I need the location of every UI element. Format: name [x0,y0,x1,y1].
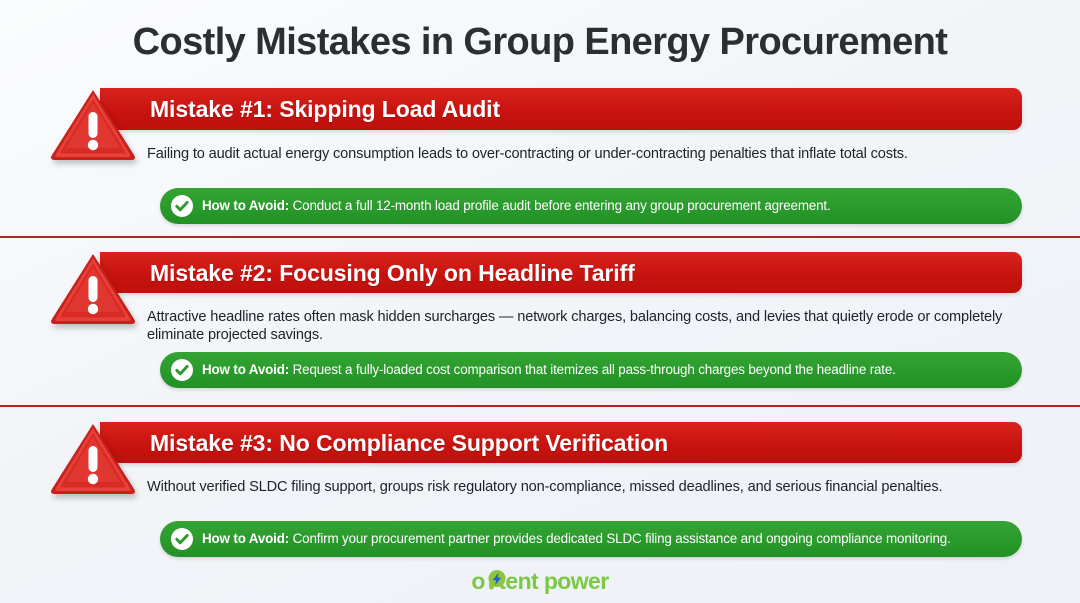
check-circle-icon [171,528,193,550]
logo-wordmark: optent power [471,566,608,596]
footer-logo: optent power [0,566,1080,596]
advice-body: Request a fully-loaded cost comparison t… [293,362,896,377]
section-divider-1 [0,236,1080,238]
mistake-description: Attractive headline rates often mask hid… [147,309,1027,344]
section-divider-2 [0,405,1080,407]
check-circle-icon [171,359,193,381]
warning-triangle-icon [48,85,138,163]
logo-text-after: tent power [498,568,608,594]
advice-pill: How to Avoid: Conduct a full 12-month lo… [160,188,1022,224]
warning-triangle-icon [48,419,138,497]
advice-pill: How to Avoid: Request a fully-loaded cos… [160,352,1022,388]
infographic-page: Costly Mistakes in Group Energy Procurem… [0,0,1080,603]
mistake-description: Failing to audit actual energy consumpti… [147,146,1027,164]
logo-text-before: o [471,568,484,594]
mistake-heading: Mistake #3: No Compliance Support Verifi… [150,422,668,464]
advice-pill: How to Avoid: Confirm your procurement p… [160,521,1022,557]
advice-label: How to Avoid: [202,531,289,546]
mistake-heading: Mistake #1: Skipping Load Audit [150,88,500,130]
mistake-description: Without verified SLDC filing support, gr… [147,479,1027,497]
advice-text-wrap: How to Avoid: Conduct a full 12-month lo… [202,188,831,224]
page-title: Costly Mistakes in Group Energy Procurem… [0,21,1080,64]
advice-body: Conduct a full 12-month load profile aud… [293,198,831,213]
check-circle-icon [171,195,193,217]
advice-body: Confirm your procurement partner provide… [293,531,951,546]
advice-text-wrap: How to Avoid: Request a fully-loaded cos… [202,352,896,388]
advice-label: How to Avoid: [202,362,289,377]
warning-triangle-icon [48,249,138,327]
lightning-bolt-icon [486,569,508,591]
mistake-heading: Mistake #2: Focusing Only on Headline Ta… [150,252,635,294]
advice-label: How to Avoid: [202,198,289,213]
advice-text-wrap: How to Avoid: Confirm your procurement p… [202,521,951,557]
